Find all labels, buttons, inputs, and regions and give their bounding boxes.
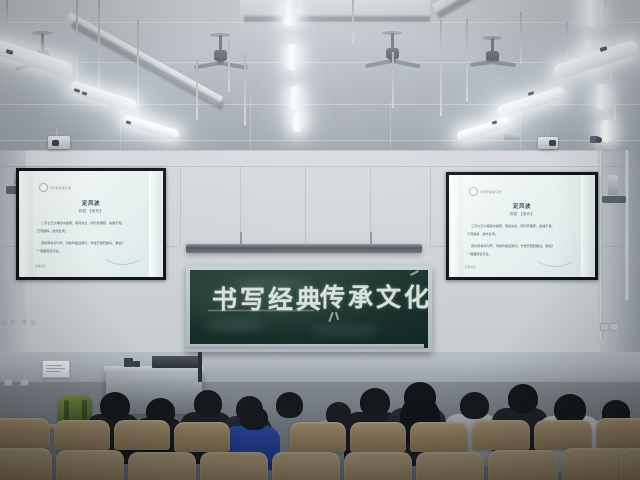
ceiling-seam <box>0 104 640 105</box>
slide-logo: 中华经典诵写讲 <box>39 183 71 192</box>
slide-decor-arc <box>101 237 145 265</box>
slide-decor-arc <box>533 239 577 267</box>
blackboard-surface: 书写经典 传承文化 <box>190 270 428 348</box>
ceiling-seam <box>0 62 640 63</box>
wall-speaker-corner <box>608 175 618 195</box>
blackboard-light-bar <box>186 244 422 253</box>
projection-screen-right-surface: 中华经典诵写讲 定风波 苏轼 【宋代】 三月七日沙湖道中遇雨，雨具先去，同行皆狼… <box>449 175 595 277</box>
auditorium-seat[interactable] <box>290 422 346 452</box>
ceiling-seam <box>250 96 251 150</box>
student-head <box>360 388 390 416</box>
lectern-object <box>124 358 133 367</box>
slide-title: 定风波 <box>449 202 595 210</box>
auditorium-seat[interactable] <box>350 422 406 452</box>
slide-body-line: 已而遂晴，故作此词。 <box>37 228 141 234</box>
light-rod <box>392 52 394 108</box>
auditorium-seat[interactable] <box>0 448 52 480</box>
ceiling-fan-stem <box>491 38 494 52</box>
security-camera-lens <box>596 137 602 143</box>
wall-pipe <box>598 150 603 340</box>
ceiling-bulkhead-shadow <box>244 16 430 22</box>
slide-title: 定风波 <box>19 199 163 207</box>
slide-scroll-edge <box>451 175 463 277</box>
chalk-underline <box>208 310 314 311</box>
ceiling-fan-stem <box>219 35 222 51</box>
projector-lens <box>549 140 556 146</box>
power-outlet[interactable] <box>4 378 13 386</box>
auditorium-seat[interactable] <box>114 420 170 450</box>
slide-logo-mark <box>39 183 48 192</box>
auditorium-seat[interactable] <box>128 452 196 480</box>
sign-line <box>46 371 60 372</box>
light-rod <box>352 0 354 44</box>
light-rod <box>440 20 442 116</box>
student-head <box>194 390 222 417</box>
projection-screen-left-surface: 中华经典诵写讲 定风波 苏轼 【宋代】 三月七日沙湖道中遇雨，雨具先去，同行皆狼… <box>19 171 163 277</box>
slide-logo-label: 中华经典诵写讲 <box>50 186 71 190</box>
chalk-smudge <box>204 318 264 332</box>
ceiling-seam <box>0 22 640 23</box>
wall-bracket <box>602 196 626 203</box>
wall-notice-sign <box>42 360 70 378</box>
auditorium-seat[interactable] <box>200 452 268 480</box>
blackboard: 书写经典 传承文化 <box>186 266 432 352</box>
auditorium-seat[interactable] <box>174 422 230 452</box>
auditorium-seat[interactable] <box>272 452 340 480</box>
lectern-object <box>133 361 140 367</box>
wall-seam <box>430 166 431 246</box>
ceiling-seam <box>390 100 391 150</box>
ceiling-light <box>286 44 299 70</box>
student-head <box>508 384 538 413</box>
backpack-strap <box>82 400 87 422</box>
light-rod <box>228 40 230 92</box>
auditorium-seat[interactable] <box>472 420 530 450</box>
wall-seam <box>180 166 181 246</box>
slide-subtitle: 苏轼 【宋代】 <box>19 209 163 214</box>
lecture-hall-photo: 止步 等候 中华经典诵写讲 定风波 苏轼 【宋代】 三月七日沙湖道中遇雨，雨具先… <box>0 0 640 480</box>
ceiling-fan-stem <box>391 33 394 49</box>
slide-subtitle: 苏轼 【宋代】 <box>449 212 595 217</box>
light-rod <box>520 12 522 64</box>
ceiling-light <box>283 0 297 26</box>
student-head <box>100 392 130 420</box>
light-rod <box>614 100 616 120</box>
slide-logo: 中华经典诵写讲 <box>469 187 501 196</box>
auditorium-seat[interactable] <box>416 452 484 480</box>
ceiling-light <box>289 86 301 110</box>
ceiling-light <box>583 0 600 26</box>
power-outlet[interactable] <box>20 378 29 386</box>
power-outlet[interactable] <box>610 323 619 331</box>
wall-pipe <box>625 150 629 300</box>
wall-seam <box>0 166 640 167</box>
light-rod <box>604 0 606 30</box>
ceiling-light <box>292 112 303 132</box>
slide-body-line: 三月七日沙湖道中遇雨，雨具先去，同行皆狼狈，余独不觉。 <box>471 223 577 229</box>
backpack-strap <box>64 400 69 422</box>
slide-stamp: 经典诵读 <box>465 265 475 269</box>
light-rod <box>466 18 468 102</box>
power-outlet[interactable] <box>600 323 609 331</box>
auditorium-seat[interactable] <box>344 452 412 480</box>
wall-baseboard <box>0 352 640 382</box>
slide-body-line: 已而遂晴，故作此词。 <box>467 231 573 237</box>
light-rod <box>566 22 568 60</box>
projection-screen-left: 中华经典诵写讲 定风波 苏轼 【宋代】 三月七日沙湖道中遇雨，雨具先去，同行皆狼… <box>16 168 166 280</box>
wall-seam <box>305 166 306 246</box>
wall-speaker-right <box>504 133 520 140</box>
auditorium-seat[interactable] <box>0 418 50 448</box>
student-head <box>276 392 303 418</box>
slide-scroll-edge <box>21 171 33 277</box>
auditorium-seat[interactable] <box>56 450 124 480</box>
lectern-equipment <box>152 356 200 368</box>
blackboard-chalk-line-2: 传承文化 <box>320 278 428 314</box>
projector-lens <box>52 140 59 146</box>
slide-logo-mark <box>469 187 478 196</box>
auditorium-seat[interactable] <box>596 418 640 448</box>
slide-body-line: 三月七日沙湖道中遇雨，雨具先去，同行皆狼狈，余独不觉。 <box>41 220 145 226</box>
sign-line <box>46 368 65 369</box>
light-rod <box>137 20 139 124</box>
student-head <box>460 392 489 419</box>
auditorium-seat[interactable] <box>488 450 558 480</box>
auditorium-seat[interactable] <box>54 420 110 450</box>
chalk-tray <box>186 344 424 349</box>
slide-scroll-edge <box>149 171 161 277</box>
wall-ghost-text: 止步 等候 <box>2 318 38 327</box>
projection-screen-right: 中华经典诵写讲 定风波 苏轼 【宋代】 三月七日沙湖道中遇雨，雨具先去，同行皆狼… <box>446 172 598 280</box>
auditorium-seat[interactable] <box>620 448 640 480</box>
light-rod <box>76 0 78 92</box>
lectern-cable <box>198 352 202 382</box>
light-rod <box>244 55 246 125</box>
chalk-mark <box>410 270 419 276</box>
sign-line <box>46 365 62 366</box>
ceiling-light <box>595 84 609 110</box>
chalk-smudge <box>310 324 380 336</box>
wall-seam <box>0 150 640 151</box>
student-head <box>240 406 268 430</box>
ceiling-fan-stem <box>41 33 44 51</box>
slide-scroll-edge <box>581 175 593 277</box>
auditorium-seat[interactable] <box>534 420 592 450</box>
slide-logo-label: 中华经典诵写讲 <box>480 190 501 194</box>
right-wall <box>600 150 640 382</box>
slide-stamp: 经典诵读 <box>35 264 45 268</box>
light-rod <box>98 0 100 92</box>
auditorium-seat[interactable] <box>410 422 468 452</box>
light-rod <box>196 60 198 120</box>
